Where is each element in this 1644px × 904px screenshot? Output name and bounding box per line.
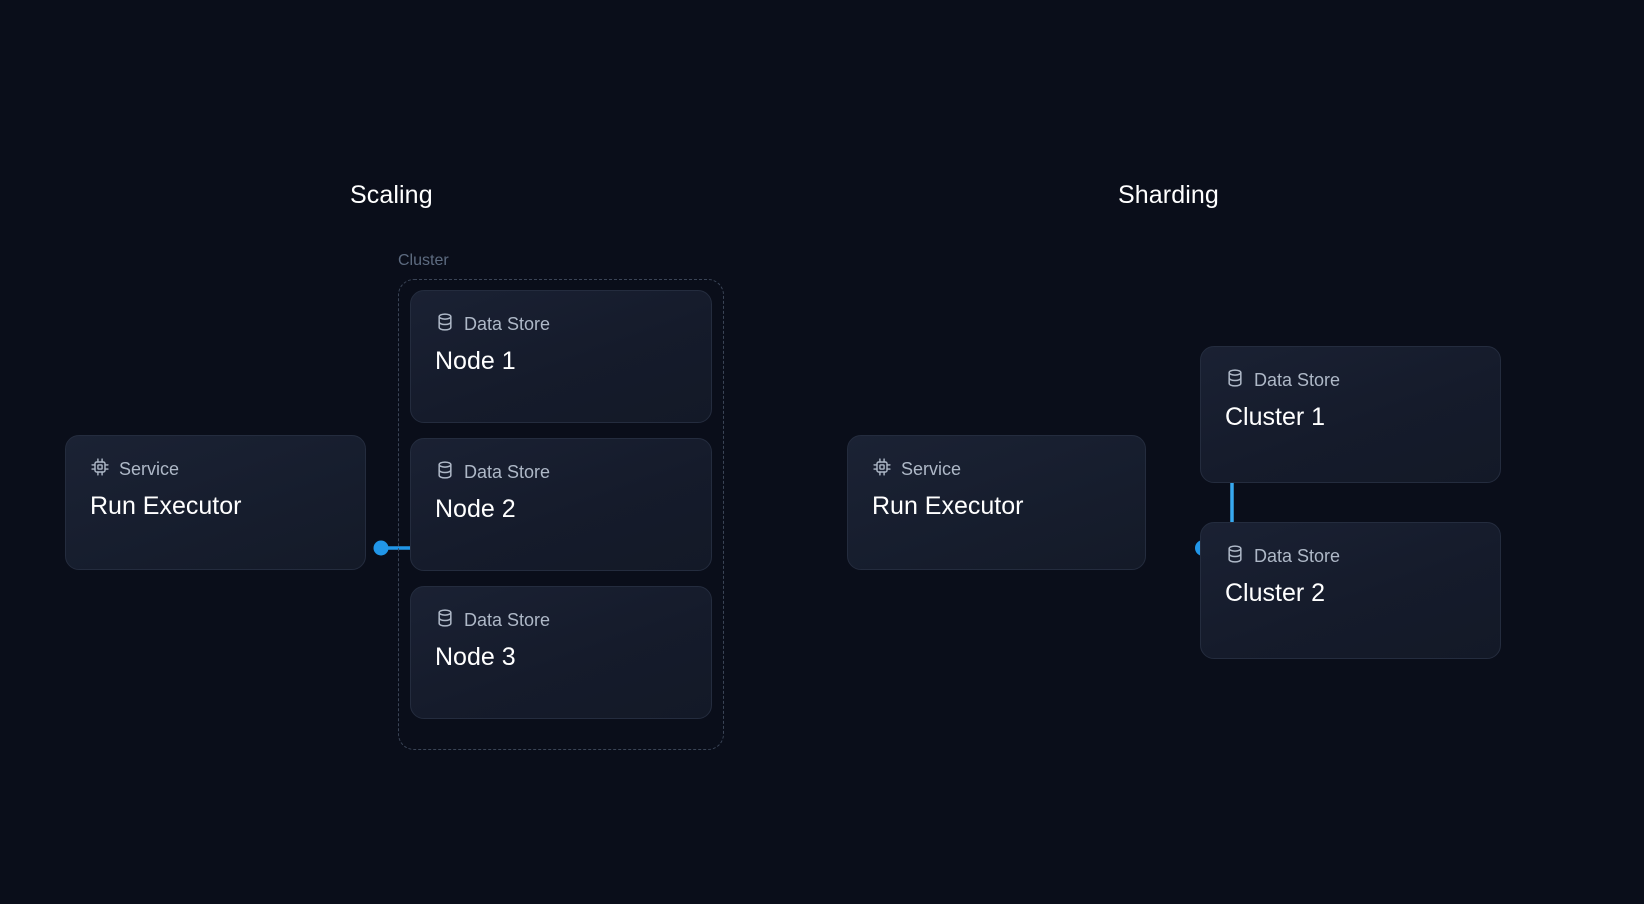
card-header: Data Store: [435, 609, 687, 631]
card-title: Run Executor: [90, 491, 341, 521]
node-card-service-right[interactable]: Service Run Executor: [847, 435, 1146, 570]
card-title: Cluster 1: [1225, 402, 1476, 432]
group-label-cluster: Cluster: [398, 252, 449, 270]
section-title-scaling: Scaling: [350, 181, 433, 210]
node-card-node-3[interactable]: Data Store Node 3: [410, 586, 712, 719]
cpu-chip-icon: [872, 457, 892, 482]
node-card-cluster-2[interactable]: Data Store Cluster 2: [1200, 522, 1501, 659]
database-icon: [1225, 368, 1245, 393]
node-card-node-2[interactable]: Data Store Node 2: [410, 438, 712, 571]
database-icon: [435, 460, 455, 485]
card-title: Node 2: [435, 494, 687, 524]
section-title-sharding: Sharding: [1118, 181, 1219, 210]
node-card-cluster-1[interactable]: Data Store Cluster 1: [1200, 346, 1501, 483]
card-kind-label: Data Store: [1254, 369, 1340, 391]
database-icon: [1225, 544, 1245, 569]
cpu-chip-icon: [90, 457, 110, 482]
card-kind-label: Data Store: [464, 609, 550, 631]
card-kind-label: Data Store: [1254, 545, 1340, 567]
card-kind-label: Data Store: [464, 461, 550, 483]
card-title: Run Executor: [872, 491, 1121, 521]
card-kind-label: Data Store: [464, 313, 550, 335]
card-header: Data Store: [1225, 545, 1476, 567]
card-title: Node 3: [435, 642, 687, 672]
card-kind-label: Service: [901, 458, 961, 480]
card-header: Service: [90, 458, 341, 480]
card-header: Data Store: [435, 461, 687, 483]
card-title: Node 1: [435, 346, 687, 376]
node-card-node-1[interactable]: Data Store Node 1: [410, 290, 712, 423]
diagram-canvas: Scaling Sharding Cluster: [0, 0, 1644, 904]
card-kind-label: Service: [119, 458, 179, 480]
database-icon: [435, 312, 455, 337]
card-header: Data Store: [435, 313, 687, 335]
card-title: Cluster 2: [1225, 578, 1476, 608]
card-header: Service: [872, 458, 1121, 480]
database-icon: [435, 608, 455, 633]
node-card-service-left[interactable]: Service Run Executor: [65, 435, 366, 570]
card-header: Data Store: [1225, 369, 1476, 391]
